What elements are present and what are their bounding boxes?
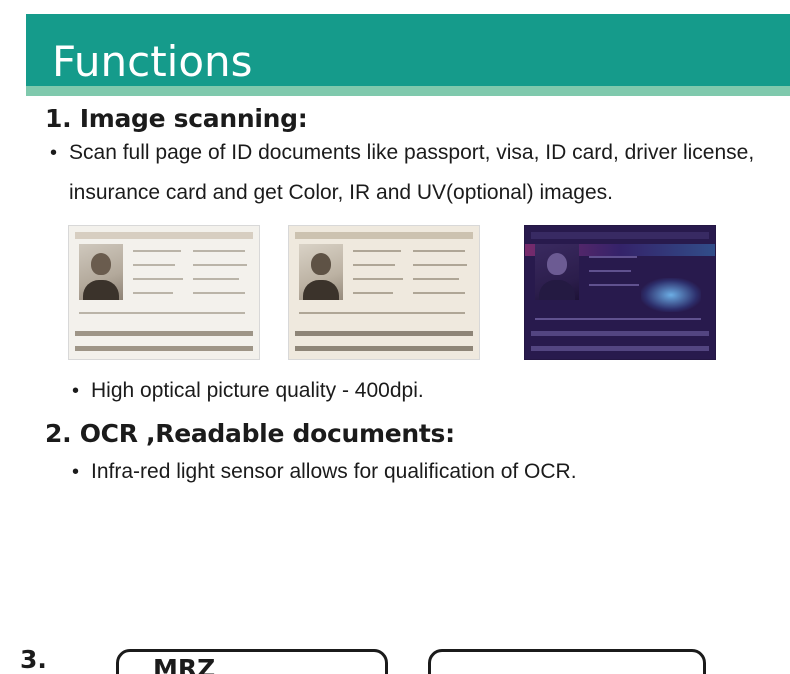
secondary-box xyxy=(428,649,706,674)
page-title: Functions xyxy=(52,32,253,92)
bullet-marker-icon: • xyxy=(72,371,79,411)
bullet-text: Infra-red light sensor allows for qualif… xyxy=(91,452,577,492)
bullet-text: High optical picture quality - 400dpi. xyxy=(91,371,424,411)
mrz-box-label: MRZ xyxy=(153,654,215,674)
section-heading-image-scanning: 1. Image scanning: xyxy=(45,104,790,133)
bullet-marker-icon: • xyxy=(50,133,57,173)
header-accent-stripe xyxy=(26,86,790,96)
scan-sample-images xyxy=(0,225,790,365)
ir-scan-sample-image xyxy=(288,225,480,360)
section-heading-ocr: 2. OCR ,Readable documents: xyxy=(45,419,790,448)
mrz-box: MRZ xyxy=(116,649,388,674)
uv-scan-sample-image xyxy=(524,225,716,360)
header-banner: Functions xyxy=(26,14,790,86)
bullet-optical-quality: • High optical picture quality - 400dpi. xyxy=(72,371,790,411)
content-area: 1. Image scanning: • Scan full page of I… xyxy=(0,104,790,492)
bullet-marker-icon: • xyxy=(72,452,79,492)
bullet-scan-full-page: • Scan full page of ID documents like pa… xyxy=(50,133,790,213)
section-number-3: 3. xyxy=(20,645,47,674)
bottom-cutoff-row: 3. MRZ xyxy=(0,645,790,674)
bullet-infra-red-sensor: • Infra-red light sensor allows for qual… xyxy=(72,452,790,492)
color-scan-sample-image xyxy=(68,225,260,360)
bullet-text: Scan full page of ID documents like pass… xyxy=(69,133,759,213)
